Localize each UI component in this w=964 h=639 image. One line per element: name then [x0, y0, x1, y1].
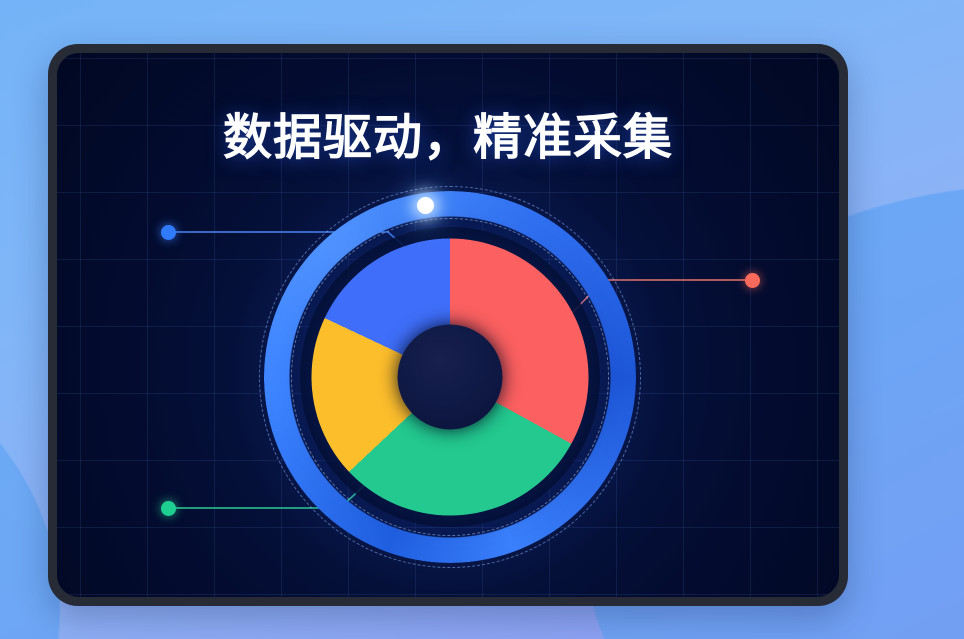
poster-canvas: 数据驱动，精准采集 [0, 0, 964, 639]
device-screen: 数据驱动，精准采集 [57, 53, 839, 597]
donut-center-hole [398, 325, 503, 430]
tablet-device-frame: 数据驱动，精准采集 [48, 44, 848, 606]
callout-dot-red-icon[interactable] [745, 273, 760, 288]
callout-dot-blue-icon[interactable] [161, 225, 176, 240]
page-title: 数据驱动，精准采集 [57, 114, 839, 163]
callout-dot-green-icon[interactable] [161, 501, 176, 516]
